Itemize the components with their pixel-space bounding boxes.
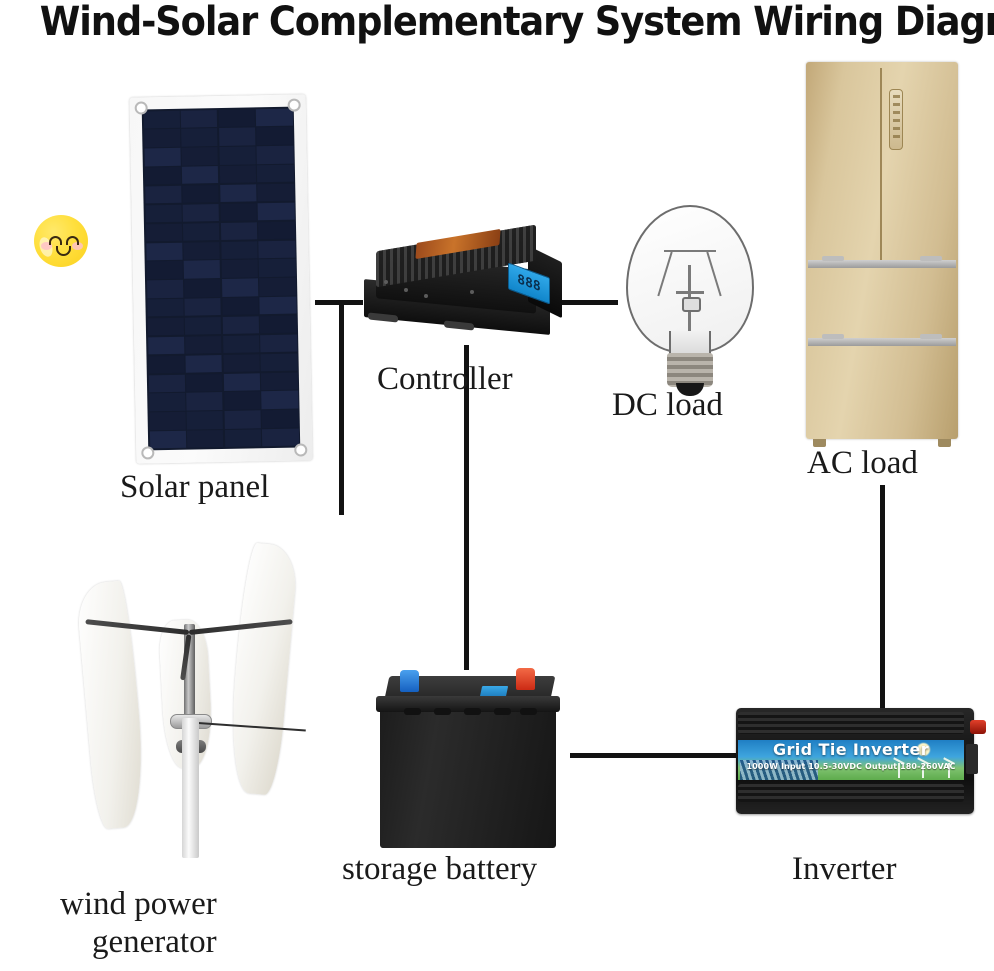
solar-cell: [145, 205, 181, 223]
solar-cell: [146, 261, 182, 279]
ac-load-label: AC load: [807, 444, 918, 482]
inverter-spec-text: 1000W Input 10.5-30VDC Output 180-260VAC: [738, 762, 964, 772]
solar-cell: [186, 374, 222, 392]
dc-load-label: DC load: [612, 386, 723, 424]
solar-cell: [148, 374, 184, 392]
solar-cell: [219, 128, 255, 146]
solar-cell: [144, 129, 180, 147]
solar-cell: [260, 297, 296, 315]
solar-cell: [220, 184, 256, 202]
solar-cell: [186, 355, 222, 373]
wire-battery-to-inverter: [570, 753, 744, 758]
wire-solar-bus-drop: [339, 300, 344, 515]
solar-cell: [221, 241, 257, 259]
solar-cell: [258, 202, 294, 220]
solar-cell: [182, 147, 218, 165]
solar-cell: [181, 110, 217, 128]
wire-inverter-to-ac-load: [880, 485, 885, 710]
solar-cell: [145, 186, 181, 204]
solar-cell: [186, 392, 222, 410]
solar-cell: [261, 353, 297, 371]
solar-cell: [261, 372, 297, 390]
solar-cell: [221, 222, 257, 240]
refrigerator-icon: [806, 62, 958, 447]
light-bulb-icon: [612, 205, 768, 395]
solar-cell: [147, 299, 183, 317]
solar-cell: [262, 410, 298, 428]
solar-cell: [219, 147, 255, 165]
page-title: Wind-Solar Complementary System Wiring D…: [40, 0, 954, 48]
storage-battery-label: storage battery: [342, 850, 537, 888]
solar-cell: [220, 203, 256, 221]
solar-cell: [258, 184, 294, 202]
sun-eye-left: [49, 236, 62, 245]
solar-cell: [221, 260, 257, 278]
solar-cell: [259, 240, 295, 258]
solar-cell: [224, 373, 260, 391]
wind-generator-label-line2: generator: [92, 923, 217, 961]
solar-cell: [187, 411, 223, 429]
solar-cell: [183, 223, 219, 241]
solar-cell: [147, 318, 183, 336]
solar-cell: [256, 108, 292, 126]
solar-cell: [223, 335, 259, 353]
solar-cell: [256, 127, 292, 145]
solar-cell: [184, 298, 220, 316]
solar-cell: [257, 146, 293, 164]
solar-cell: [260, 316, 296, 334]
solar-cell: [143, 110, 179, 128]
solar-cell: [220, 165, 256, 183]
solar-cell: [224, 392, 260, 410]
fridge-control-panel: [889, 89, 903, 150]
solar-cell: [183, 242, 219, 260]
turbine-blade: [75, 580, 148, 830]
solar-panel-icon: [130, 94, 313, 463]
solar-cell: [185, 336, 221, 354]
solar-cell: [145, 223, 181, 241]
solar-cell: [223, 354, 259, 372]
grid-tie-inverter-icon: Grid Tie Inverter 1000W Input 10.5-30VDC…: [730, 700, 982, 828]
solar-cell: [262, 391, 298, 409]
solar-cell: [258, 221, 294, 239]
solar-cell: [181, 128, 217, 146]
solar-panel-label: Solar panel: [120, 468, 269, 506]
solar-cell: [262, 429, 298, 447]
solar-cell: [146, 242, 182, 260]
battery-negative-terminal: [400, 670, 419, 692]
sun-eye-right: [66, 236, 79, 245]
solar-cell: [144, 167, 180, 185]
solar-cell: [187, 430, 223, 448]
charge-controller-icon: 888: [358, 228, 562, 343]
wind-generator-label-line1: wind power: [60, 885, 217, 923]
solar-cell: [218, 109, 254, 127]
solar-cell: [225, 429, 261, 447]
turbine-blade: [225, 542, 299, 796]
inverter-brand-text: Grid Tie Inverter: [738, 741, 964, 759]
solar-cell: [185, 317, 221, 335]
solar-cell: [148, 355, 184, 373]
controller-label: Controller: [377, 360, 513, 398]
solar-cell: [149, 431, 185, 449]
solar-cell: [183, 204, 219, 222]
wire-controller-to-dc-load: [560, 300, 618, 305]
vertical-axis-wind-turbine-icon: [58, 524, 330, 854]
solar-cell: [222, 279, 258, 297]
solar-cell: [259, 278, 295, 296]
controller-lcd-value: 888: [517, 273, 540, 295]
inverter-label: Inverter: [792, 850, 896, 888]
solar-cell: [182, 166, 218, 184]
solar-cell: [222, 316, 258, 334]
solar-cell: [222, 297, 258, 315]
solar-cell: [149, 412, 185, 430]
sun-icon: [8, 190, 112, 294]
solar-cell: [184, 279, 220, 297]
solar-cell: [259, 259, 295, 277]
solar-cell: [260, 334, 296, 352]
storage-battery-icon: [368, 662, 568, 852]
solar-cell: [149, 393, 185, 411]
solar-cell: [147, 280, 183, 298]
solar-cell: [257, 165, 293, 183]
battery-positive-terminal: [516, 668, 535, 690]
solar-cell: [148, 337, 184, 355]
solar-cell: [184, 260, 220, 278]
wiring-diagram-canvas: Wind-Solar Complementary System Wiring D…: [0, 0, 994, 971]
inverter-terminal-knob: [970, 720, 986, 734]
solar-cell: [182, 185, 218, 203]
solar-cell: [144, 148, 180, 166]
solar-cell: [224, 411, 260, 429]
